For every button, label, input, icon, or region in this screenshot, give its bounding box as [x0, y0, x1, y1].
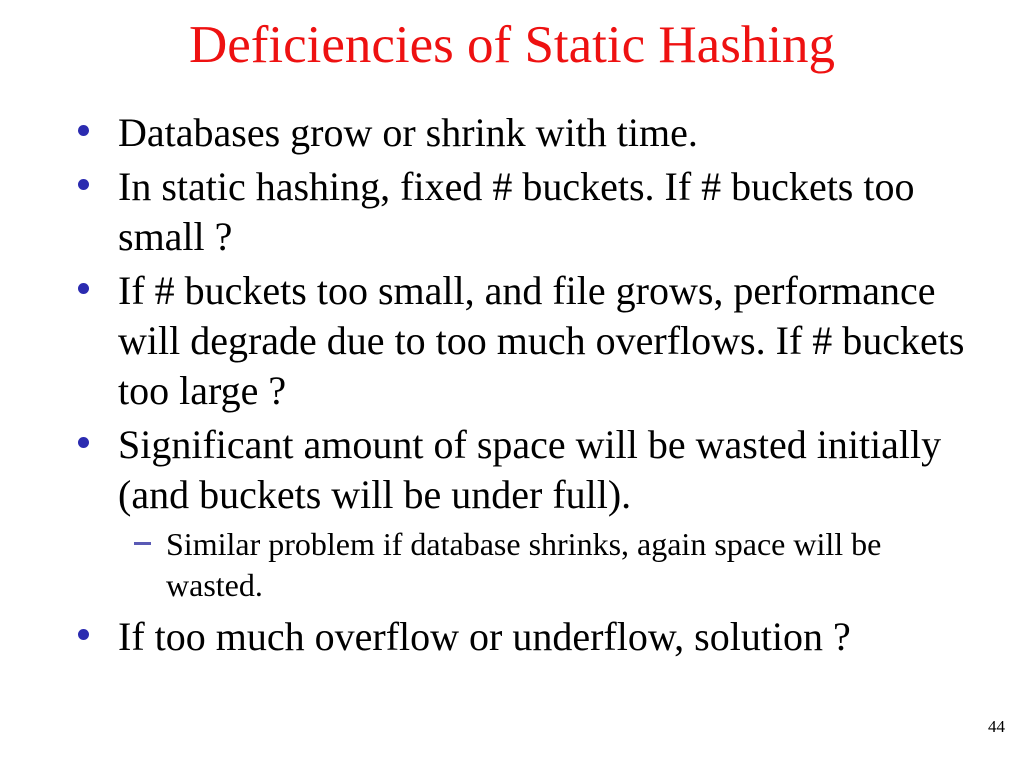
list-item: If too much overflow or underflow, solut… — [78, 612, 968, 662]
dash-bullet-icon — [134, 524, 166, 545]
round-bullet-icon — [78, 420, 118, 448]
slide-canvas: Deficiencies of Static Hashing Databases… — [0, 0, 1024, 768]
list-item-label: Significant amount of space will be wast… — [118, 420, 968, 520]
round-bullet-icon — [78, 162, 118, 190]
round-bullet-icon — [78, 108, 118, 136]
round-bullet-icon — [78, 612, 118, 640]
list-item: Significant amount of space will be wast… — [78, 420, 968, 520]
sub-list-item: Similar problem if database shrinks, aga… — [134, 524, 968, 606]
list-item: If # buckets too small, and file grows, … — [78, 266, 968, 416]
slide-body: Databases grow or shrink with time. In s… — [78, 108, 968, 666]
list-item-label: Databases grow or shrink with time. — [118, 108, 968, 158]
list-item-label: If # buckets too small, and file grows, … — [118, 266, 968, 416]
list-item: Databases grow or shrink with time. — [78, 108, 968, 158]
sub-list-item-label: Similar problem if database shrinks, aga… — [166, 524, 968, 606]
round-bullet-icon — [78, 266, 118, 294]
page-title: Deficiencies of Static Hashing — [0, 14, 1024, 76]
list-item-label: If too much overflow or underflow, solut… — [118, 612, 968, 662]
list-item-label: In static hashing, fixed # buckets. If #… — [118, 162, 968, 262]
page-number: 44 — [988, 717, 1005, 736]
list-item: In static hashing, fixed # buckets. If #… — [78, 162, 968, 262]
